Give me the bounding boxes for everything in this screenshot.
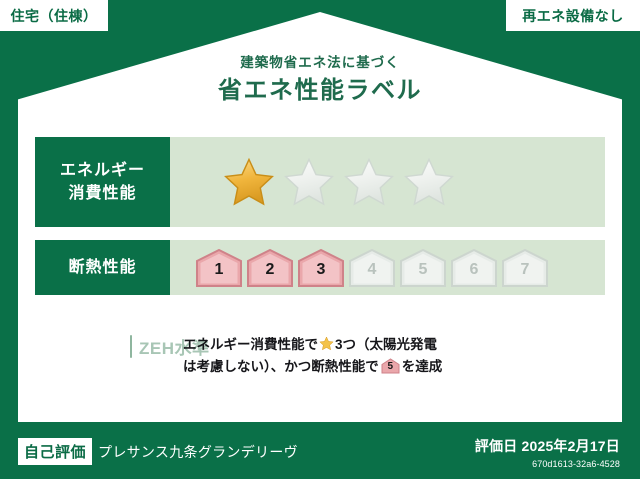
tag-dwelling-type-label: 住宅（住棟） [11, 6, 98, 26]
insulation-step-empty: 7 [501, 248, 549, 288]
insulation-step-value: 5 [399, 248, 447, 288]
insulation-grade-inline-value: 5 [381, 358, 400, 374]
insulation-step-empty: 4 [348, 248, 396, 288]
tag-renewable-equipment: 再エネ設備なし [506, 0, 640, 31]
zeh-standard-note: ZEH水準 エネルギー消費性能で3つ（太陽光発電は考慮しない）、かつ断熱性能で5… [35, 334, 605, 378]
insulation-step-value: 7 [501, 248, 549, 288]
title-subtitle: 建築物省エネ法に基づく [0, 55, 640, 71]
energy-performance-label: エネルギー 消費性能 [35, 137, 170, 227]
energy-performance-row: エネルギー 消費性能 [35, 137, 605, 227]
star-icon-empty [403, 157, 455, 207]
insulation-step-value: 3 [297, 248, 345, 288]
footer-left-group: 自己評価 プレサンス九条グランデリーヴ [18, 438, 298, 465]
evaluation-id: 670d1613-32a6-4528 [475, 459, 620, 469]
insulation-step-value: 4 [348, 248, 396, 288]
star-icon-filled [223, 157, 275, 207]
star-rating [170, 157, 455, 207]
insulation-performance-label-line1: 断熱性能 [68, 256, 136, 279]
insulation-step-filled: 3 [297, 248, 345, 288]
insulation-grade-scale: 1234567 [170, 248, 549, 288]
label-title-block: 建築物省エネ法に基づく 省エネ性能ラベル [0, 55, 640, 106]
insulation-step-value: 2 [246, 248, 294, 288]
energy-label-card: 住宅（住棟） 再エネ設備なし 建築物省エネ法に基づく 省エネ性能ラベル エネルギ… [0, 0, 640, 479]
insulation-step-empty: 5 [399, 248, 447, 288]
insulation-grade-inline-badge: 5 [381, 358, 400, 374]
zeh-description-part2: 3つ（太陽光発電 [335, 337, 437, 352]
insulation-step-value: 6 [450, 248, 498, 288]
insulation-step-filled: 1 [195, 248, 243, 288]
zeh-description: エネルギー消費性能で3つ（太陽光発電は考慮しない）、かつ断熱性能で5を達成 [175, 334, 442, 378]
zeh-description-part1: エネルギー消費性能で [183, 337, 318, 352]
building-name: プレサンス九条グランデリーヴ [98, 442, 298, 462]
footer-right-group: 評価日 2025年2月17日 670d1613-32a6-4528 [475, 436, 620, 469]
star-icon-empty [343, 157, 395, 207]
star-icon [319, 336, 334, 351]
evaluation-date: 評価日 2025年2月17日 [475, 436, 620, 456]
zeh-description-part4: を達成 [402, 359, 443, 374]
self-evaluation-badge: 自己評価 [18, 438, 92, 465]
energy-performance-label-line2: 消費性能 [68, 182, 136, 205]
label-footer: 自己評価 プレサンス九条グランデリーヴ 評価日 2025年2月17日 670d1… [0, 428, 640, 479]
energy-performance-value [170, 137, 605, 227]
insulation-performance-label: 断熱性能 [35, 240, 170, 295]
insulation-performance-value: 1234567 [170, 240, 605, 295]
insulation-step-value: 1 [195, 248, 243, 288]
insulation-step-empty: 6 [450, 248, 498, 288]
zeh-description-part3: は考慮しない）、かつ断熱性能で [183, 359, 379, 374]
zeh-badge: ZEH水準 [35, 334, 175, 359]
zeh-chart-icon [130, 335, 132, 358]
tag-dwelling-type: 住宅（住棟） [0, 0, 108, 31]
page-title: 省エネ性能ラベル [0, 77, 640, 106]
energy-performance-label-line1: エネルギー [60, 159, 145, 182]
insulation-performance-row: 断熱性能 1234567 [35, 240, 605, 295]
tag-renewable-equipment-label: 再エネ設備なし [522, 6, 624, 26]
star-icon-empty [283, 157, 335, 207]
insulation-step-filled: 2 [246, 248, 294, 288]
